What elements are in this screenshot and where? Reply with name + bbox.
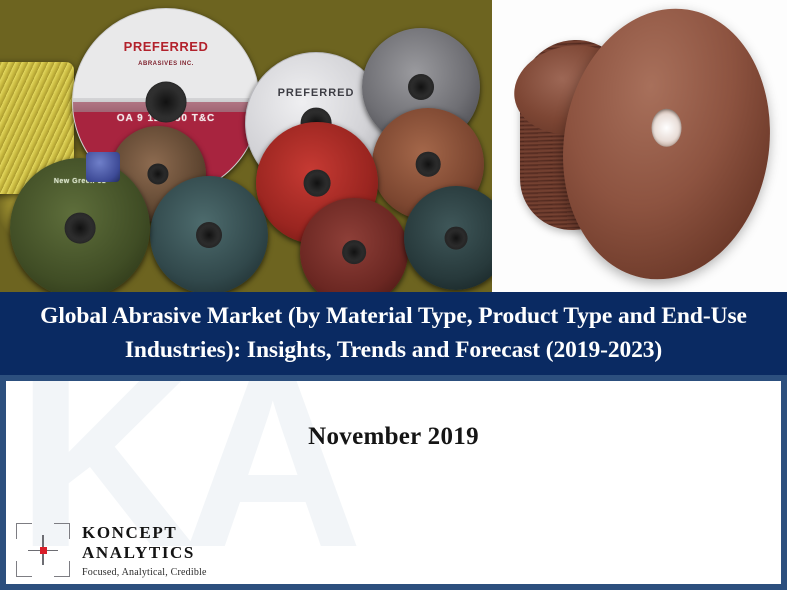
cover-photo-strip: PREFERRED ABRASIVES INC. OA 9 12X150 T&C… bbox=[0, 0, 787, 292]
report-title: Global Abrasive Market (by Material Type… bbox=[2, 300, 785, 367]
koncept-analytics-logo: KONCEPT ANALYTICS Focused, Analytical, C… bbox=[16, 523, 207, 578]
disc-brand-label: PREFERRED bbox=[124, 39, 209, 54]
logo-tagline: Focused, Analytical, Credible bbox=[82, 567, 207, 578]
disc-spec-label: OA 9 12X150 T&C bbox=[117, 113, 216, 124]
logo-name-line-1: KONCEPT bbox=[82, 523, 207, 544]
dark-teal-flap-disc bbox=[150, 176, 268, 292]
crosshair-corner-bottom-right bbox=[54, 561, 70, 577]
blue-hub-cap bbox=[86, 152, 120, 182]
abrasive-discs-photo-left: PREFERRED ABRASIVES INC. OA 9 12X150 T&C… bbox=[0, 0, 492, 292]
crosshair-corner-top-left bbox=[16, 523, 32, 539]
teal-abrasive-disc bbox=[404, 186, 492, 290]
publication-date: November 2019 bbox=[6, 423, 781, 451]
logo-wordmark: KONCEPT ANALYTICS Focused, Analytical, C… bbox=[82, 523, 207, 578]
report-cover-page: PREFERRED ABRASIVES INC. OA 9 12X150 T&C… bbox=[0, 0, 787, 590]
wheel-band bbox=[73, 98, 259, 112]
report-title-banner: Global Abrasive Market (by Material Type… bbox=[0, 292, 787, 375]
cover-body-frame: KA November 2019 KONCEPT ANALYTICS Focus… bbox=[0, 375, 787, 590]
maroon-abrasive-disc bbox=[300, 198, 408, 292]
disc-brand-label: PREFERRED bbox=[278, 87, 355, 99]
logo-name-line-2: ANALYTICS bbox=[82, 543, 207, 564]
crosshair-icon bbox=[16, 523, 70, 577]
crosshair-corner-bottom-left bbox=[16, 561, 32, 577]
fiber-sanding-discs-photo-right bbox=[492, 0, 787, 292]
green-flap-disc: New Green 61 bbox=[10, 158, 150, 292]
disc-sub-label: ABRASIVES INC. bbox=[138, 61, 194, 67]
crosshair-center-dot bbox=[40, 547, 47, 554]
crosshair-corner-top-right bbox=[54, 523, 70, 539]
